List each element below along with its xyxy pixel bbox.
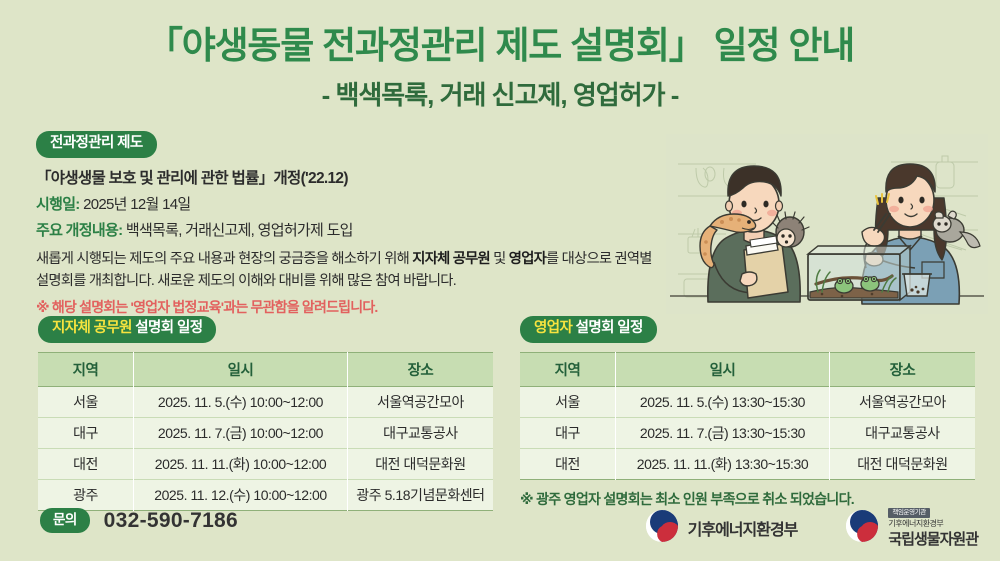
logo-ministry-of-climate-energy-environment: 기후에너지환경부	[645, 509, 798, 548]
cell-datetime: 2025. 11. 11.(화) 10:00~12:00	[134, 448, 348, 479]
business-operator-badge: 영업자 설명회 일정	[520, 316, 657, 343]
column-header-region: 지역	[520, 352, 616, 386]
info-section: 전과정관리 제도 「야생생물 보호 및 관리에 관한 법률」개정('22.12)…	[36, 131, 656, 317]
agency-name: 국립생물자원관	[888, 531, 978, 549]
cell-region: 서울	[520, 386, 616, 417]
enforcement-date-label: 시행일:	[36, 196, 80, 213]
paragraph-emphasis-officials: 지자체 공무원	[412, 251, 490, 267]
paragraph-text-1: 새롭게 시행되는 제도의 주요 내용과 현장의 궁금증을 해소하기 위해	[36, 251, 412, 267]
cell-venue: 서울역공간모아	[829, 386, 975, 417]
enforcement-date-line: 시행일: 2025년 12월 14일	[36, 193, 656, 214]
logo-national-institute-of-biological-resources: 책임운영기관 기후에너지환경부 국립생물자원관	[845, 508, 978, 549]
cell-datetime: 2025. 11. 5.(수) 10:00~12:00	[134, 386, 348, 417]
business-operator-schedule-table: 지역 일시 장소 서울 2025. 11. 5.(수) 13:30~15:30 …	[520, 352, 975, 480]
cell-datetime: 2025. 11. 12.(수) 10:00~12:00	[134, 479, 348, 510]
cell-venue: 대구교통공사	[347, 417, 493, 448]
cell-datetime: 2025. 11. 5.(수) 13:30~15:30	[616, 386, 830, 417]
paragraph-text-2: 및	[490, 251, 509, 267]
table-row: 대전 2025. 11. 11.(화) 13:30~15:30 대전 대덕문화원	[520, 448, 975, 479]
contact-badge: 문의	[40, 508, 90, 533]
local-government-badge-highlight: 지자체 공무원	[52, 320, 132, 336]
info-paragraph: 새롭게 시행되는 제도의 주요 내용과 현장의 궁금증을 해소하기 위해 지자체…	[36, 248, 656, 293]
column-header-region: 지역	[38, 352, 134, 386]
table-row: 광주 2025. 11. 12.(수) 10:00~12:00 광주 5.18기…	[38, 479, 493, 510]
schedule-section-business-operator: 영업자 설명회 일정 지역 일시 장소 서울 2025. 11. 5.(수) 1…	[520, 316, 975, 509]
table-header-row: 지역 일시 장소	[38, 352, 493, 386]
cell-venue: 대전 대덕문화원	[347, 448, 493, 479]
cell-venue: 서울역공간모아	[347, 386, 493, 417]
cell-venue: 광주 5.18기념문화센터	[347, 479, 493, 510]
cell-datetime: 2025. 11. 7.(금) 10:00~12:00	[134, 417, 348, 448]
taegeuk-icon	[845, 509, 879, 548]
table-header-row: 지역 일시 장소	[520, 352, 975, 386]
footer-logos: 기후에너지환경부 책임운영기관 기후에너지환경부 국립생물자원관	[645, 508, 978, 549]
column-header-datetime: 일시	[134, 352, 348, 386]
column-header-datetime: 일시	[616, 352, 830, 386]
revision-content-label: 주요 개정내용:	[36, 222, 122, 239]
page-subtitle: - 백색목록, 거래 신고제, 영업허가 -	[0, 75, 1000, 112]
cell-venue: 대구교통공사	[829, 417, 975, 448]
taegeuk-icon	[645, 509, 679, 548]
column-header-venue: 장소	[347, 352, 493, 386]
poster-root: 「야생동물 전과정관리 제도 설명회」 일정 안내 - 백색목록, 거래 신고제…	[0, 0, 1000, 561]
revision-content-value: 백색목록, 거래신고제, 영업허가제 도입	[126, 222, 353, 239]
agency-logo-text-stack: 책임운영기관 기후에너지환경부 국립생물자원관	[888, 508, 978, 549]
footer-contact: 문의 032-590-7186	[40, 508, 238, 533]
local-government-badge-row: 지자체 공무원 설명회 일정	[38, 316, 493, 343]
cell-region: 대전	[520, 448, 616, 479]
cell-region: 대구	[520, 417, 616, 448]
cell-region: 광주	[38, 479, 134, 510]
column-header-venue: 장소	[829, 352, 975, 386]
table-row: 대구 2025. 11. 7.(금) 13:30~15:30 대구교통공사	[520, 417, 975, 448]
table-row: 대구 2025. 11. 7.(금) 10:00~12:00 대구교통공사	[38, 417, 493, 448]
title-block: 「야생동물 전과정관리 제도 설명회」 일정 안내 - 백색목록, 거래 신고제…	[0, 24, 1000, 112]
law-title: 「야생생물 보호 및 관리에 관한 법률」개정('22.12)	[36, 166, 656, 188]
page-title: 「야생동물 전과정관리 제도 설명회」 일정 안내	[0, 24, 1000, 68]
business-operator-badge-highlight: 영업자	[534, 320, 572, 336]
local-government-schedule-table: 지역 일시 장소 서울 2025. 11. 5.(수) 10:00~12:00 …	[38, 352, 493, 511]
cell-venue: 대전 대덕문화원	[829, 448, 975, 479]
business-operator-badge-rest: 설명회 일정	[572, 320, 643, 336]
cell-region: 대전	[38, 448, 134, 479]
enforcement-date-value: 2025년 12월 14일	[83, 196, 190, 213]
business-operator-cancellation-note: ※ 광주 영업자 설명회는 최소 인원 부족으로 취소 되었습니다.	[520, 489, 975, 509]
cell-region: 서울	[38, 386, 134, 417]
cell-datetime: 2025. 11. 7.(금) 13:30~15:30	[616, 417, 830, 448]
agency-tag: 책임운영기관	[888, 508, 929, 518]
cell-datetime: 2025. 11. 11.(화) 13:30~15:30	[616, 448, 830, 479]
agency-parent-ministry: 기후에너지환경부	[888, 519, 978, 529]
cell-region: 대구	[38, 417, 134, 448]
table-row: 서울 2025. 11. 5.(수) 13:30~15:30 서울역공간모아	[520, 386, 975, 417]
business-operator-badge-row: 영업자 설명회 일정	[520, 316, 975, 343]
table-row: 서울 2025. 11. 5.(수) 10:00~12:00 서울역공간모아	[38, 386, 493, 417]
schedule-section-local-government: 지자체 공무원 설명회 일정 지역 일시 장소 서울 2025. 11. 5.(…	[38, 316, 493, 511]
info-badge-row: 전과정관리 제도	[36, 131, 656, 158]
paragraph-emphasis-operators: 영업자	[509, 251, 546, 267]
ministry-name: 기후에너지환경부	[688, 516, 798, 540]
contact-phone-number: 032-590-7186	[104, 509, 238, 533]
local-government-badge-rest: 설명회 일정	[132, 320, 203, 336]
illustration	[666, 134, 988, 314]
local-government-badge: 지자체 공무원 설명회 일정	[38, 316, 216, 343]
system-badge: 전과정관리 제도	[36, 131, 157, 158]
info-disclaimer-note: ※ 해당 설명회는 '영업자 법정교육'과는 무관함을 알려드립니다.	[36, 297, 656, 317]
table-row: 대전 2025. 11. 11.(화) 10:00~12:00 대전 대덕문화원	[38, 448, 493, 479]
revision-content-line: 주요 개정내용: 백색목록, 거래신고제, 영업허가제 도입	[36, 219, 656, 240]
